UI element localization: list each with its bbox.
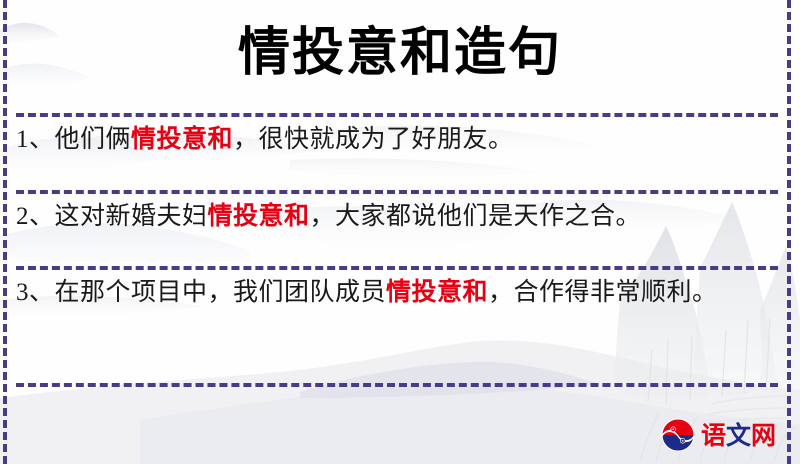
list-item: 3、在那个项目中，我们团队成员情投意和，合作得非常顺利。 bbox=[16, 275, 774, 311]
logo-char-wen: 文 bbox=[726, 421, 751, 450]
divider-above-sentence-3 bbox=[16, 266, 778, 270]
list-item: 1、他们俩情投意和，很快就成为了好朋友。 bbox=[16, 122, 774, 158]
logo-char-yu: 语 bbox=[701, 421, 726, 450]
sentence-text-before: 他们俩 bbox=[55, 126, 132, 153]
list-item: 2、这对新婚夫妇情投意和，大家都说他们是天作之合。 bbox=[16, 199, 774, 235]
sentence-number: 1、 bbox=[16, 126, 55, 153]
site-logo: 语文网 bbox=[661, 418, 776, 452]
divider-below-sentence-3 bbox=[16, 383, 778, 387]
sentence-text-before: 在那个项目中，我们团队成员 bbox=[55, 279, 387, 306]
sentence-text-after: ，合作得非常顺利。 bbox=[488, 279, 718, 306]
sentence-text-after: ，很快就成为了好朋友。 bbox=[233, 126, 514, 153]
keyword-highlight: 情投意和 bbox=[131, 126, 233, 153]
divider-above-sentence-1 bbox=[16, 113, 778, 117]
site-logo-text: 语文网 bbox=[701, 423, 776, 448]
yuwen-yinyang-logo-icon bbox=[661, 418, 695, 452]
sentence-number: 2、 bbox=[16, 203, 55, 230]
document-page: 情投意和造句 1、他们俩情投意和，很快就成为了好朋友。 2、这对新婚夫妇情投意和… bbox=[0, 0, 800, 464]
sentence-number: 3、 bbox=[16, 279, 55, 306]
keyword-highlight: 情投意和 bbox=[386, 279, 488, 306]
divider-above-sentence-2 bbox=[16, 190, 778, 194]
page-title: 情投意和造句 bbox=[0, 20, 800, 85]
sentence-text-after: ，大家都说他们是天作之合。 bbox=[310, 203, 642, 230]
sentence-text-before: 这对新婚夫妇 bbox=[55, 203, 208, 230]
keyword-highlight: 情投意和 bbox=[208, 203, 310, 230]
logo-char-wang: 网 bbox=[751, 421, 776, 450]
